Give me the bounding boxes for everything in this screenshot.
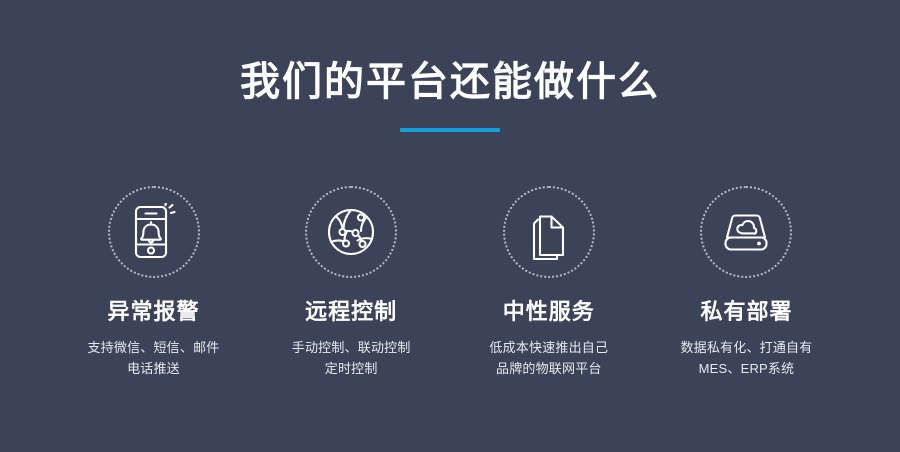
icon-circle-private-deployment — [700, 186, 792, 278]
feature-list: 异常报警 支持微信、短信、邮件 电话推送 — [55, 186, 845, 379]
network-globe-icon — [322, 203, 380, 261]
phone-bell-alert-icon — [127, 203, 181, 261]
documents-stack-icon — [523, 203, 575, 261]
feature-item-neutral-service[interactable]: 中性服务 低成本快速推出自己 品牌的物联网平台 — [450, 186, 647, 379]
icon-circle-alert — [108, 186, 200, 278]
feature-description: 手动控制、联动控制 定时控制 — [292, 337, 411, 379]
feature-item-remote-control[interactable]: 远程控制 手动控制、联动控制 定时控制 — [253, 186, 450, 379]
feature-title: 异常报警 — [107, 298, 199, 326]
icon-circle-neutral-service — [503, 186, 595, 278]
promo-slide: 我们的平台还能做什么 — [0, 0, 900, 452]
icon-circle-remote-control — [305, 186, 397, 278]
feature-item-alert[interactable]: 异常报警 支持微信、短信、邮件 电话推送 — [55, 186, 252, 379]
feature-title: 中性服务 — [503, 298, 595, 326]
feature-description: 低成本快速推出自己 品牌的物联网平台 — [489, 337, 608, 379]
feature-description: 数据私有化、打通自有 MES、ERP系统 — [680, 337, 812, 379]
cloud-server-icon — [717, 206, 775, 258]
feature-title: 远程控制 — [305, 298, 397, 326]
page-title: 我们的平台还能做什么 — [0, 58, 900, 106]
feature-title: 私有部署 — [700, 298, 792, 326]
feature-description: 支持微信、短信、邮件 电话推送 — [87, 337, 219, 379]
heading-block: 我们的平台还能做什么 — [0, 58, 900, 132]
accent-underline — [400, 128, 500, 132]
feature-item-private-deployment[interactable]: 私有部署 数据私有化、打通自有 MES、ERP系统 — [648, 186, 845, 379]
